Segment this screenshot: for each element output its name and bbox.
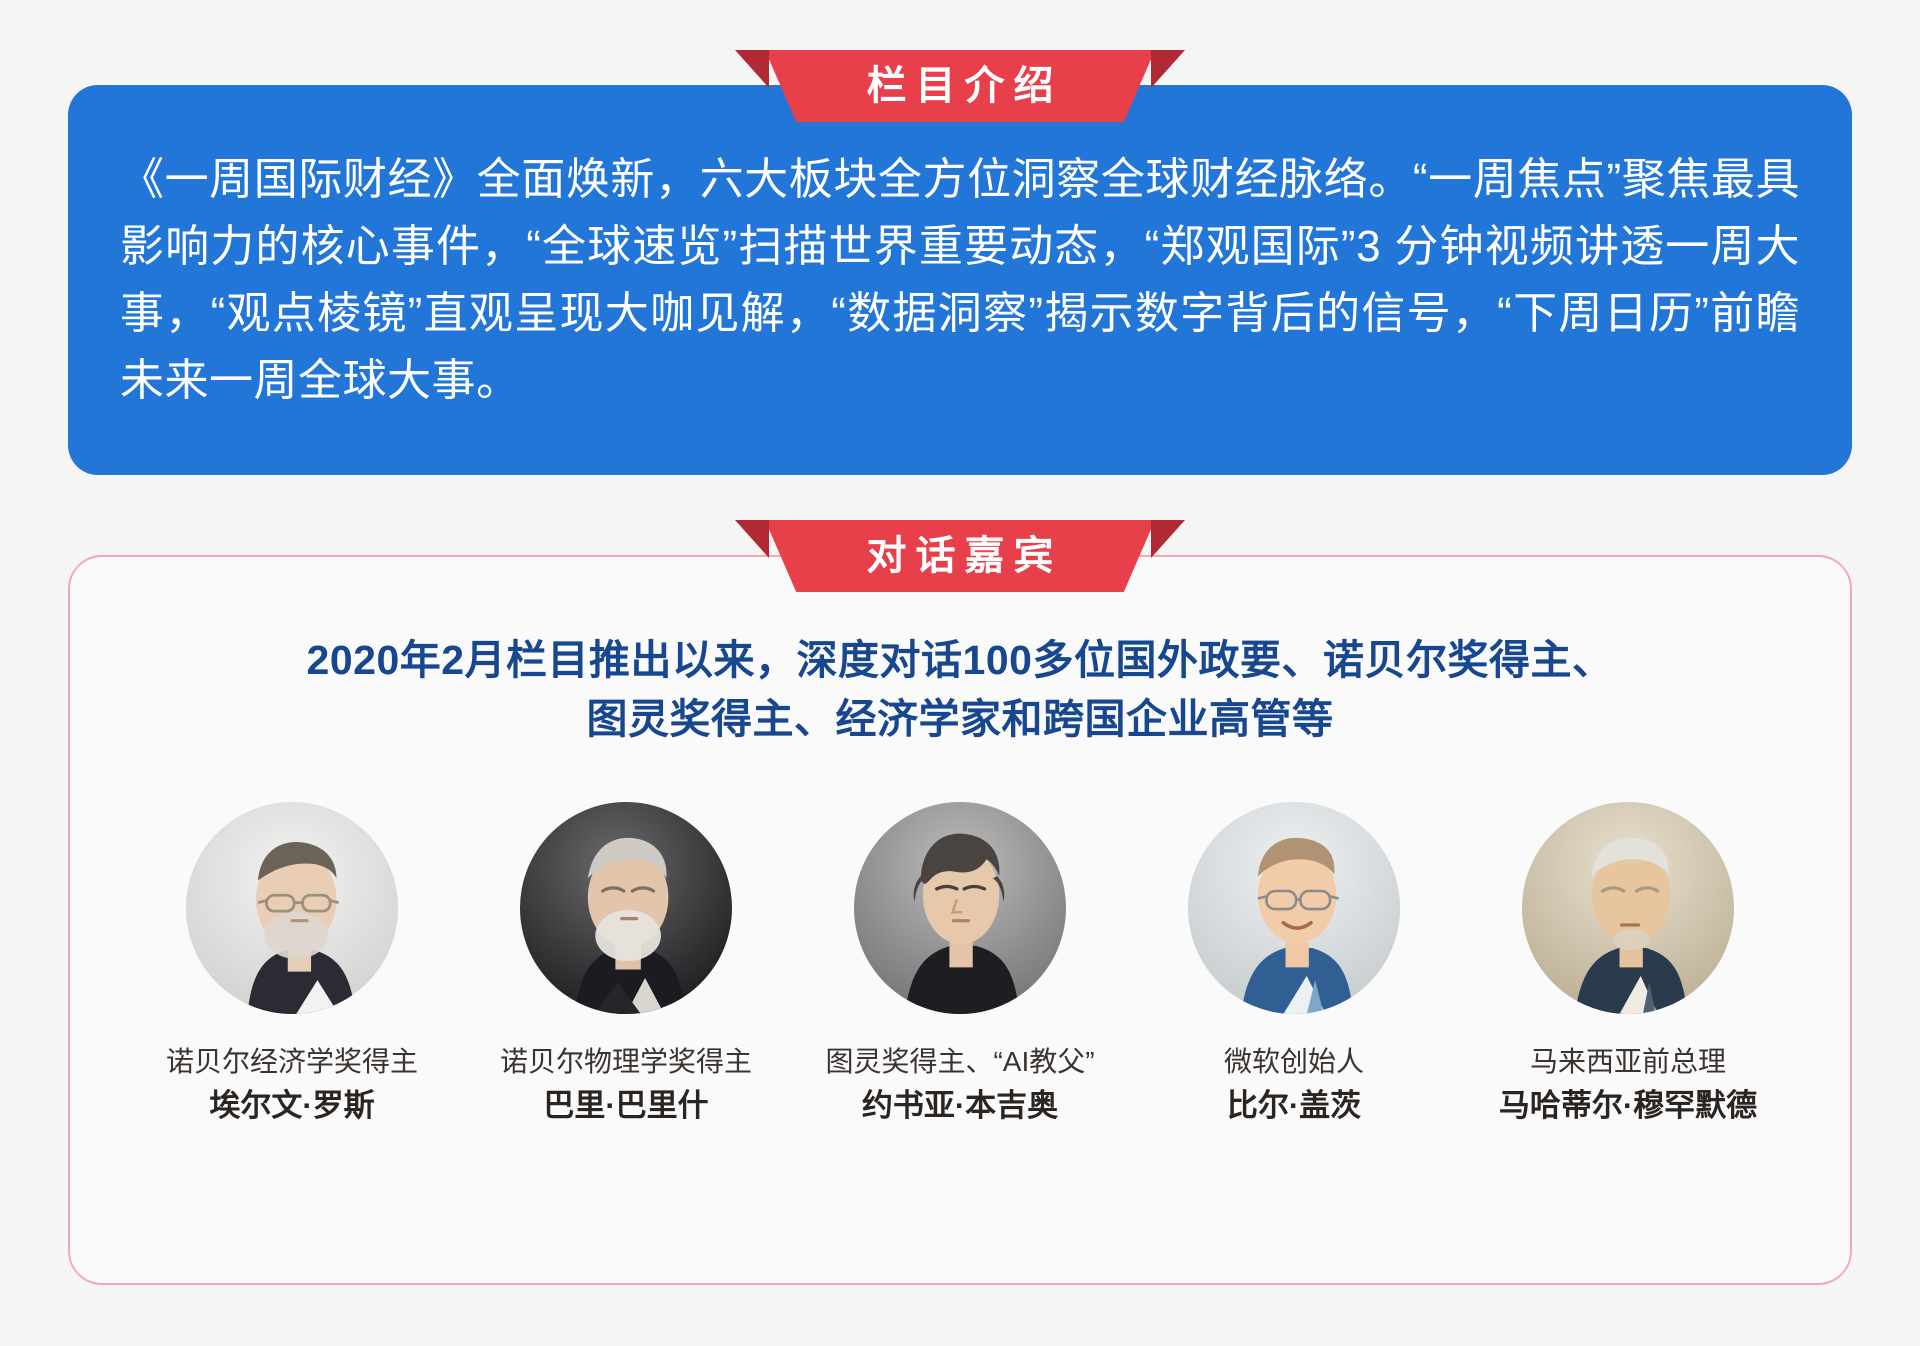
portrait-barry-barish-icon [520, 802, 732, 1014]
guest-name: 马哈蒂尔·穆罕默德 [1499, 1087, 1757, 1126]
guests-row: 诺贝尔经济学奖得主 埃尔文·罗斯 [70, 750, 1850, 1126]
guests-card: 2020年2月栏目推出以来，深度对话100多位国外政要、诺贝尔奖得主、 图灵奖得… [68, 555, 1852, 1285]
guest-name: 比尔·盖茨 [1227, 1087, 1361, 1126]
guest-name: 埃尔文·罗斯 [209, 1087, 374, 1126]
ribbon-guests-label: 对话嘉宾 [858, 536, 1063, 576]
guest-name: 巴里·巴里什 [543, 1087, 708, 1126]
poster-root: 《一周国际财经》全面焕新，六大板块全方位洞察全球财经脉络。“一周焦点”聚焦最具影… [0, 0, 1920, 1346]
guest-role: 马来西亚前总理 [1530, 1044, 1726, 1079]
guests-heading: 2020年2月栏目推出以来，深度对话100多位国外政要、诺贝尔奖得主、 图灵奖得… [70, 631, 1850, 750]
ribbon-fold-right-icon [1151, 520, 1185, 558]
guest-role: 诺贝尔经济学奖得主 [166, 1044, 418, 1079]
portrait-mahathir-mohamad-icon [1522, 802, 1734, 1014]
guests-heading-line-2: 图灵奖得主、经济学家和跨国企业高管等 [220, 690, 1700, 749]
portrait-bill-gates-icon [1188, 802, 1400, 1014]
ribbon-fold-left-icon [735, 520, 769, 558]
guest-role: 图灵奖得主、“AI教父” [825, 1044, 1094, 1079]
ribbon-guests: 对话嘉宾 [735, 520, 1185, 592]
portrait-alvin-roth-icon [186, 802, 398, 1014]
guest-card[interactable]: 马来西亚前总理 马哈蒂尔·穆罕默德 [1478, 802, 1778, 1126]
portrait-yoshua-bengio-icon [854, 802, 1066, 1014]
guest-name: 约书亚·本吉奥 [862, 1087, 1058, 1126]
intro-panel: 《一周国际财经》全面焕新，六大板块全方位洞察全球财经脉络。“一周焦点”聚焦最具影… [68, 85, 1852, 475]
guest-card[interactable]: 诺贝尔经济学奖得主 埃尔文·罗斯 [142, 802, 442, 1126]
guest-card[interactable]: 微软创始人 比尔·盖茨 [1144, 802, 1444, 1126]
guests-heading-line-1: 2020年2月栏目推出以来，深度对话100多位国外政要、诺贝尔奖得主、 [220, 631, 1700, 690]
guest-role: 微软创始人 [1224, 1044, 1364, 1079]
ribbon-intro: 栏目介绍 [735, 50, 1185, 122]
guest-card[interactable]: 图灵奖得主、“AI教父” 约书亚·本吉奥 [810, 802, 1110, 1126]
ribbon-intro-label: 栏目介绍 [858, 66, 1063, 106]
ribbon-fold-left-icon [735, 50, 769, 88]
guest-card[interactable]: 诺贝尔物理学奖得主 巴里·巴里什 [476, 802, 776, 1126]
intro-paragraph: 《一周国际财经》全面焕新，六大板块全方位洞察全球财经脉络。“一周焦点”聚焦最具影… [120, 147, 1800, 415]
ribbon-fold-right-icon [1151, 50, 1185, 88]
guest-role: 诺贝尔物理学奖得主 [500, 1044, 752, 1079]
